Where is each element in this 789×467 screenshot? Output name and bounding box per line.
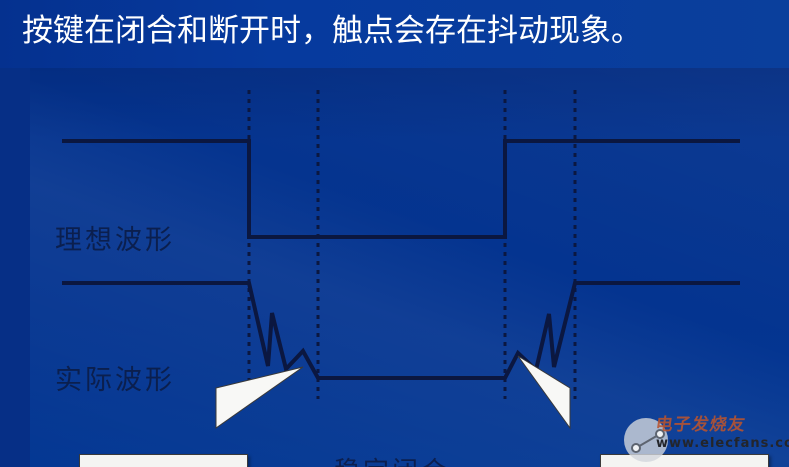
left-rail — [0, 68, 30, 467]
timing-marker-lines — [249, 90, 575, 399]
title-band: 按键在闭合和断开时，触点会存在抖动现象。 — [0, 0, 789, 68]
waveform-diagram-panel: 理想波形 实际波形 稳定闭合 按下抖动 释放抖动 — [30, 68, 789, 467]
release-bounce-pointer — [518, 356, 570, 428]
actual-waveform-label: 实际波形 — [55, 358, 175, 397]
release-bounce-callout: 释放抖动 — [600, 454, 769, 467]
ideal-waveform-label: 理想波形 — [55, 218, 175, 257]
stable-closed-label: 稳定闭合 — [334, 451, 450, 467]
press-bounce-callout: 按下抖动 — [79, 454, 248, 467]
slide-root: 按键在闭合和断开时，触点会存在抖动现象。 理想波形 实际波形 — [0, 0, 789, 467]
press-bounce-pointer — [216, 367, 303, 428]
waveform-svg — [30, 68, 789, 467]
page-title: 按键在闭合和断开时，触点会存在抖动现象。 — [22, 7, 642, 55]
